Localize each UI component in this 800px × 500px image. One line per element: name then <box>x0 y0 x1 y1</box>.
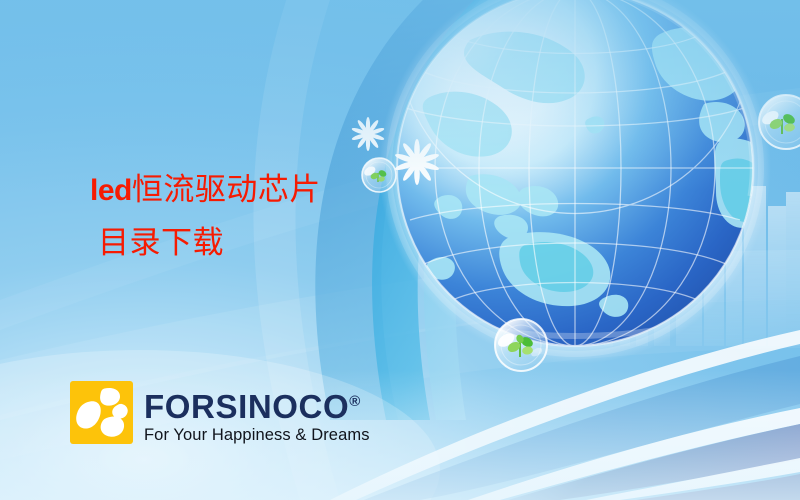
registered-mark: ® <box>349 393 360 410</box>
brand-name: FORSINOCO® <box>144 385 370 424</box>
brand-logo-lockup[interactable]: FORSINOCO® For Your Happiness & Dreams <box>70 381 370 445</box>
promo-banner: led恒流驱动芯片 目录下载 FORSINOCO® For Your Happ <box>0 0 800 500</box>
brand-name-text: FORSINOCO <box>144 388 349 425</box>
brand-wordmark-block: FORSINOCO® For Your Happiness & Dreams <box>144 381 370 445</box>
pinwheel-flower-icon <box>70 381 133 444</box>
brand-tagline: For Your Happiness & Dreams <box>144 425 370 445</box>
